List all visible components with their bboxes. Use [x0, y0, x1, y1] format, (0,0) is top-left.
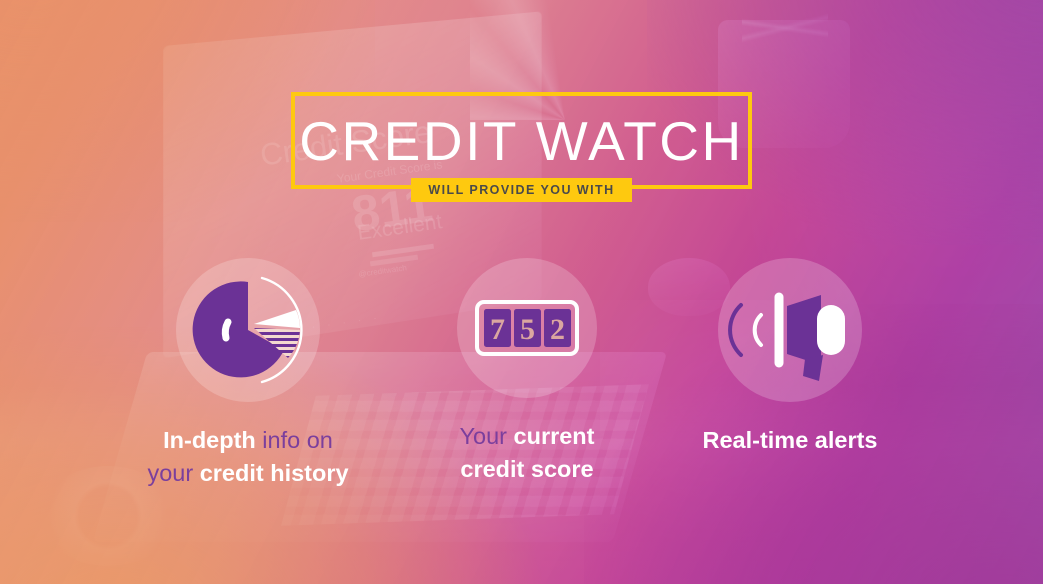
caption-segment: Real-time alerts: [702, 427, 877, 453]
caption-line-1: Real-time alerts: [645, 424, 935, 457]
caption-segment: your: [147, 460, 199, 486]
caption-segment: Your: [460, 423, 514, 449]
credit-watch-slide: Credit Score Your Credit Score is 811 Ex…: [0, 0, 1043, 584]
caption-line-1: In-depth info on: [103, 424, 393, 457]
caption-segment: info on: [256, 427, 333, 453]
feature-in-depth-info: In-depth info on your credit history: [103, 258, 393, 490]
icon-backdrop-circle: [718, 258, 862, 402]
feature-caption: Your current credit score: [382, 420, 672, 486]
feature-current-score: 7 5 2 Your current credit score: [382, 258, 672, 486]
subtitle-banner: WILL PROVIDE YOU WITH: [411, 178, 632, 202]
feature-caption: In-depth info on your credit history: [103, 424, 393, 490]
caption-segment: credit score: [460, 456, 593, 482]
caption-line-2: your credit history: [103, 457, 393, 490]
digit-2: 5: [520, 313, 535, 346]
caption-line-1: Your current: [382, 420, 672, 453]
megaphone-icon: [727, 275, 853, 385]
pie-chart-icon: [184, 266, 312, 394]
icon-backdrop-circle: 7 5 2: [457, 258, 597, 398]
caption-segment: In-depth: [163, 427, 256, 453]
digit-1: 7: [490, 313, 505, 346]
caption-segment: current: [514, 423, 595, 449]
caption-line-2: credit score: [382, 453, 672, 486]
feature-caption: Real-time alerts: [645, 424, 935, 457]
icon-backdrop-circle: [176, 258, 320, 402]
digit-3: 2: [550, 313, 565, 346]
page-title: CREDIT WATCH: [291, 92, 752, 189]
credit-score-digits-icon: 7 5 2: [475, 294, 579, 362]
feature-realtime-alerts: Real-time alerts: [645, 258, 935, 457]
caption-segment: credit history: [200, 460, 349, 486]
